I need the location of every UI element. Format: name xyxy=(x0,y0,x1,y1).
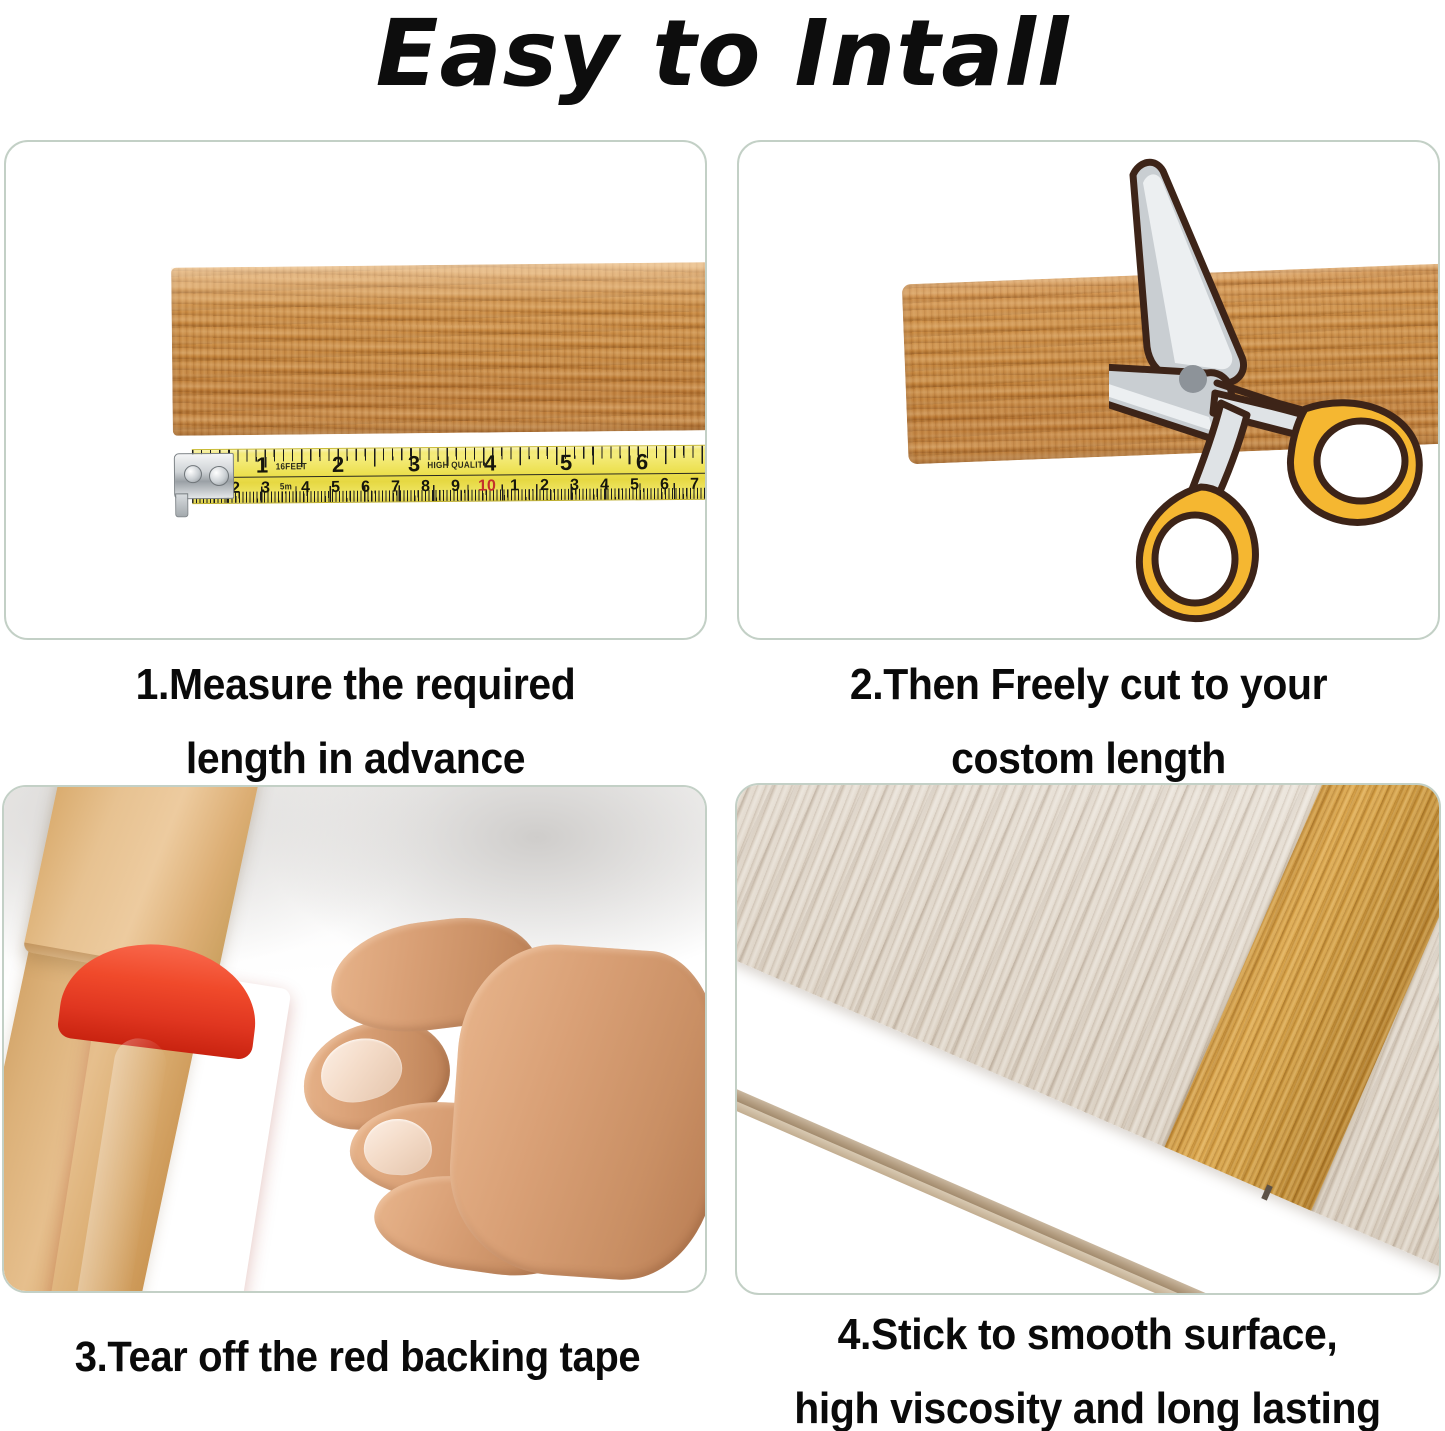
tape-inch-number: 2 xyxy=(332,454,344,476)
infographic-page: Easy to Intall 1 2 3 4 5 6 7 2 xyxy=(0,0,1445,1431)
tape-brand-label: 16FEET xyxy=(276,462,307,471)
scissors-icon xyxy=(1109,147,1439,637)
palm xyxy=(443,938,707,1286)
tape-cm-number: 1 xyxy=(510,478,519,494)
caption-line: 4.Stick to smooth surface, xyxy=(755,1298,1420,1372)
tape-cm-number: 5 xyxy=(630,477,639,493)
panel-cut-step xyxy=(737,140,1440,640)
panel-measure-step: 1 2 3 4 5 6 7 2 3 4 5 6 7 8 9 10 1 2 3 xyxy=(4,140,707,640)
tape-cm-number: 7 xyxy=(391,479,400,495)
caption-peel-step: 3.Tear off the red backing tape xyxy=(25,1320,690,1394)
tape-cm-number: 8 xyxy=(421,479,430,495)
tape-blade: 1 2 3 4 5 6 7 2 3 4 5 6 7 8 9 10 1 2 3 xyxy=(192,445,707,505)
tape-hook-lip xyxy=(175,493,188,517)
tape-cm-number: 5 xyxy=(331,480,340,496)
tape-inch-number: 3 xyxy=(408,453,420,475)
caption-stick-step: 4.Stick to smooth surface, high viscosit… xyxy=(755,1298,1420,1431)
tape-quality-label: HIGH QUALITY xyxy=(427,461,488,471)
tape-cm-number: 7 xyxy=(690,477,699,493)
tape-cm-number: 3 xyxy=(261,481,270,497)
caption-line: high viscosity and long lasting xyxy=(755,1372,1420,1431)
wood-highlight xyxy=(171,262,707,311)
caption-cut-step: 2.Then Freely cut to your costom length xyxy=(762,648,1416,796)
tape-cm-number: 3 xyxy=(570,478,579,494)
page-title: Easy to Intall xyxy=(0,2,1445,110)
tape-measure-image: 1 2 3 4 5 6 7 2 3 4 5 6 7 8 9 10 1 2 3 xyxy=(174,445,707,503)
tape-hook-rivet xyxy=(209,466,229,486)
tape-cm-number: 2 xyxy=(540,478,549,494)
tape-inch-number: 5 xyxy=(560,452,572,474)
wood-strip-image xyxy=(171,262,707,436)
caption-line: 2.Then Freely cut to your xyxy=(762,648,1416,722)
tape-cm-number: 6 xyxy=(361,480,370,496)
scissors-pivot-icon xyxy=(1179,365,1207,393)
tape-cm-number: 4 xyxy=(600,478,609,494)
tape-cm-number: 6 xyxy=(660,477,669,493)
caption-line: 1.Measure the required xyxy=(29,648,683,722)
tape-cm-number: 9 xyxy=(451,479,460,495)
wood-board-surface xyxy=(735,783,1441,1295)
tape-cm-number: 4 xyxy=(301,480,310,496)
panel-peel-step xyxy=(2,785,707,1293)
caption-line: 3.Tear off the red backing tape xyxy=(25,1320,690,1394)
tape-cm-number-decade: 10 xyxy=(478,479,496,495)
panel-stick-step xyxy=(735,783,1441,1295)
hand-image xyxy=(294,927,707,1293)
caption-measure-step: 1.Measure the required length in advance xyxy=(29,648,683,796)
tape-inch-number: 6 xyxy=(636,451,648,473)
tape-metric-label: 5m xyxy=(280,482,292,491)
tape-inch-number: 1 xyxy=(256,455,268,477)
